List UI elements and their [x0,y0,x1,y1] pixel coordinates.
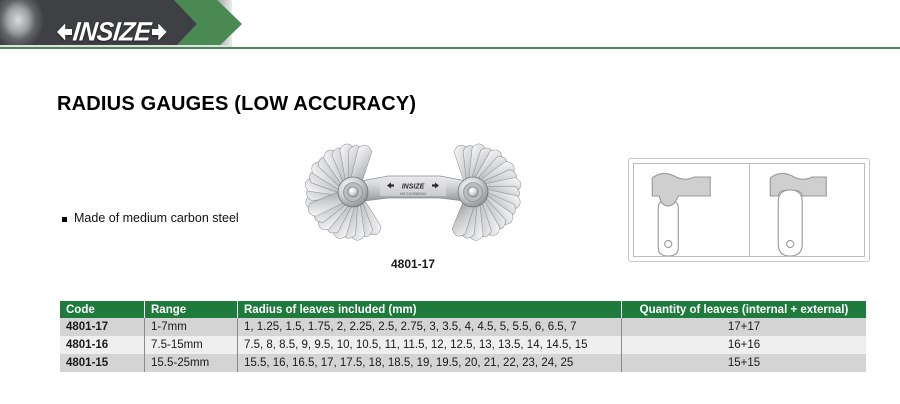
column-header-code: Code [60,301,145,318]
column-header-radius: Radius of leaves included (mm) [238,301,622,318]
cell-code: 4801-15 [60,354,145,372]
table-header-row: Code Range Radius of leaves included (mm… [60,301,866,318]
banner-accent-rule [0,47,900,49]
table-row[interactable]: 4801-17 1-7mm 1, 1.25, 1.5, 1.75, 2, 2.2… [60,318,866,336]
cell-range: 7.5-15mm [145,336,238,354]
diagram-cell-internal [749,164,865,256]
svg-text:INSIZE: INSIZE [402,184,425,191]
brand-logo[interactable]: INSIZE [57,19,167,45]
internal-radius-figure [750,164,865,256]
cell-radius: 7.5, 8, 8.5, 9, 9.5, 10, 10.5, 11, 11.5,… [238,336,622,354]
table-row[interactable]: 4801-16 7.5-15mm 7.5, 8, 8.5, 9, 9.5, 10… [60,336,866,354]
cell-quantity: 15+15 [622,354,867,372]
product-code-label: 4801-17 [288,257,538,271]
cell-radius: 1, 1.25, 1.5, 1.75, 2, 2.25, 2.5, 2.75, … [238,318,622,336]
cell-radius: 15.5, 16, 16.5, 17, 17.5, 18, 18.5, 19, … [238,354,622,372]
table-row[interactable]: 4801-15 15.5-25mm 15.5, 16, 16.5, 17, 17… [60,354,866,372]
column-header-range: Range [145,301,238,318]
page-title: RADIUS GAUGES (LOW ACCURACY) [57,93,416,116]
specification-table: Code Range Radius of leaves included (mm… [60,301,866,372]
cell-code: 4801-16 [60,336,145,354]
application-diagram [628,158,870,262]
feature-item-label: Made of medium carbon steel [74,211,239,225]
feature-item: Made of medium carbon steel [62,211,292,225]
bullet-square-icon [62,217,67,222]
cell-code: 4801-17 [60,318,145,336]
engraved-serial: NO.2112080164 [400,192,426,196]
product-figure: INSIZE NO.2112080164 4801-17 [288,132,538,277]
header-banner: INSIZE [0,0,900,50]
arrow-right-icon [152,24,167,41]
diagram-cell-external [634,164,749,256]
cell-quantity: 16+16 [622,336,867,354]
cell-quantity: 17+17 [622,318,867,336]
radius-gauge-illustration: INSIZE NO.2112080164 [288,132,538,254]
feature-list: Made of medium carbon steel [62,211,292,225]
arrow-left-icon [57,24,72,41]
cell-range: 1-7mm [145,318,238,336]
external-radius-figure [634,164,749,256]
brand-logo-text: INSIZE [72,19,152,46]
column-header-quantity: Quantity of leaves (internal + external) [622,301,867,318]
cell-range: 15.5-25mm [145,354,238,372]
